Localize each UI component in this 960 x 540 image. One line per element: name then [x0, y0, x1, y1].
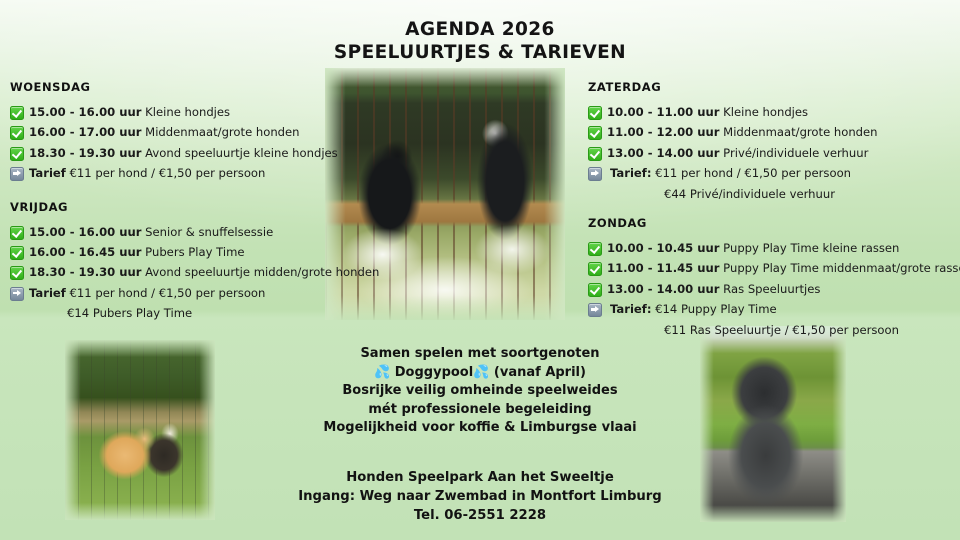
slot-text: 13.00 - 14.00 uur Privé/individuele verh… [607, 146, 868, 161]
slot-description: Kleine hondjes [720, 105, 809, 119]
check-square-icon [588, 262, 602, 276]
tarief-value: €11 per hond / €1,50 per persoon [66, 286, 266, 300]
schedule-slot-row: 15.00 - 16.00 uur Senior & snuffelsessie [10, 225, 360, 244]
slot-icon-wrap [588, 167, 602, 185]
check-square-icon [10, 266, 24, 280]
slot-text: 13.00 - 14.00 uur Ras Speeluurtjes [607, 282, 820, 297]
tarief-label: Tarief: [610, 302, 651, 316]
arrow-right-icon [588, 303, 602, 317]
promo-line-5: Mogelijkheid voor koffie & Limburgse vla… [0, 419, 960, 438]
slot-description: Middenmaat/grote honden [720, 125, 878, 139]
slot-description: Ras Speeluurtjes [720, 282, 821, 296]
slot-time: 11.00 - 11.45 uur [607, 261, 720, 275]
schedule-slot-row: 15.00 - 16.00 uur Kleine hondjes [10, 105, 360, 124]
slot-icon-wrap [588, 106, 602, 124]
slot-time: 10.00 - 10.45 uur [607, 241, 720, 255]
check-square-icon [10, 106, 24, 120]
check-square-icon [588, 126, 602, 140]
tarief-row: Tarief €11 per hond / €1,50 per persoon [10, 166, 360, 185]
arrow-right-icon [10, 167, 24, 181]
address-block: Honden Speelpark Aan het Sweeltje Ingang… [0, 468, 960, 525]
tarief-label: Tarief [29, 166, 66, 180]
schedule-column-left: WOENSDAG 15.00 - 16.00 uur Kleine hondje… [10, 80, 360, 336]
venue-phone: Tel. 06-2551 2228 [0, 506, 960, 525]
slot-icon-wrap [10, 147, 24, 165]
slot-list-zondag: 10.00 - 10.45 uur Puppy Play Time kleine… [588, 241, 958, 338]
slot-list-vrijdag: 15.00 - 16.00 uur Senior & snuffelsessie… [10, 225, 360, 322]
water-droplet-icon-right: 💦 [473, 365, 489, 380]
water-droplet-icon-left: 💦 [374, 365, 390, 380]
slot-time: 10.00 - 11.00 uur [607, 105, 720, 119]
slot-text: 15.00 - 16.00 uur Senior & snuffelsessie [29, 225, 273, 240]
slot-text: 15.00 - 16.00 uur Kleine hondjes [29, 105, 230, 120]
slot-text: 16.00 - 17.00 uur Middenmaat/grote honde… [29, 125, 300, 140]
slot-time: 18.30 - 19.30 uur [29, 265, 142, 279]
slot-icon-wrap [588, 303, 602, 321]
venue-name: Honden Speelpark Aan het Sweeltje [0, 468, 960, 487]
slot-description: Middenmaat/grote honden [142, 125, 300, 139]
promo-line-1: Samen spelen met soortgenoten [0, 345, 960, 364]
tarief-row: Tarief: €11 per hond / €1,50 per persoon [588, 166, 958, 185]
slot-text: Tarief €11 per hond / €1,50 per persoon [29, 166, 265, 181]
slot-time: 18.30 - 19.30 uur [29, 146, 142, 160]
slot-icon-wrap [10, 126, 24, 144]
day-heading-vrijdag: VRIJDAG [10, 200, 360, 214]
slot-time: 16.00 - 16.45 uur [29, 245, 142, 259]
slot-icon-wrap [588, 262, 602, 280]
slot-icon-wrap [588, 147, 602, 165]
check-square-icon [10, 246, 24, 260]
slot-description: Avond speeluurtje kleine hondjes [142, 146, 338, 160]
schedule-slot-row: 10.00 - 10.45 uur Puppy Play Time kleine… [588, 241, 958, 260]
check-square-icon [588, 242, 602, 256]
slot-time: 16.00 - 17.00 uur [29, 125, 142, 139]
slot-description: Privé/individuele verhuur [720, 146, 869, 160]
day-heading-zaterdag: ZATERDAG [588, 80, 958, 94]
schedule-slot-row: 13.00 - 14.00 uur Privé/individuele verh… [588, 146, 958, 165]
day-block-woensdag: WOENSDAG 15.00 - 16.00 uur Kleine hondje… [10, 80, 360, 186]
day-block-zaterdag: ZATERDAG 10.00 - 11.00 uur Kleine hondje… [588, 80, 958, 202]
schedule-slot-row: 16.00 - 16.45 uur Pubers Play Time [10, 245, 360, 264]
check-square-icon [588, 106, 602, 120]
poster-canvas: AGENDA 2026 SPEELUURTJES & TARIEVEN WOEN… [0, 0, 960, 540]
tarief-value: €11 per hond / €1,50 per persoon [66, 166, 266, 180]
slot-time: 11.00 - 12.00 uur [607, 125, 720, 139]
day-heading-zondag: ZONDAG [588, 216, 958, 230]
slot-text: 16.00 - 16.45 uur Pubers Play Time [29, 245, 245, 260]
title-line-1: AGENDA 2026 [0, 18, 960, 41]
tarief-row: Tarief €11 per hond / €1,50 per persoon [10, 286, 360, 305]
tarief-label: Tarief: [610, 166, 651, 180]
slot-text: 10.00 - 10.45 uur Puppy Play Time kleine… [607, 241, 899, 256]
promo-text-block: Samen spelen met soortgenoten 💦 Doggypoo… [0, 345, 960, 438]
day-block-vrijdag: VRIJDAG 15.00 - 16.00 uur Senior & snuff… [10, 200, 360, 322]
schedule-slot-row: 10.00 - 11.00 uur Kleine hondjes [588, 105, 958, 124]
slot-list-zaterdag: 10.00 - 11.00 uur Kleine hondjes11.00 - … [588, 105, 958, 202]
pool-photo-image [325, 68, 565, 320]
venue-entrance: Ingang: Weg naar Zwembad in Montfort Lim… [0, 487, 960, 506]
slot-icon-wrap [10, 246, 24, 264]
slot-icon-wrap [588, 283, 602, 301]
slot-text: Tarief: €11 per hond / €1,50 per persoon [607, 166, 851, 181]
arrow-right-icon [10, 287, 24, 301]
slot-description: Pubers Play Time [142, 245, 245, 259]
tarief-value: €11 per hond / €1,50 per persoon [651, 166, 851, 180]
promo-line-2: 💦 Doggypool💦 (vanaf April) [0, 364, 960, 383]
slot-icon-wrap [10, 266, 24, 284]
page-title: AGENDA 2026 SPEELUURTJES & TARIEVEN [0, 18, 960, 64]
check-square-icon [10, 126, 24, 140]
schedule-slot-row: 16.00 - 17.00 uur Middenmaat/grote honde… [10, 125, 360, 144]
tarief-extra-line: €14 Pubers Play Time [10, 306, 360, 321]
tarief-row: Tarief: €14 Puppy Play Time [588, 302, 958, 321]
arrow-right-icon [588, 167, 602, 181]
slot-text: 18.30 - 19.30 uur Avond speeluurtje klei… [29, 146, 338, 161]
tarief-value: €14 Puppy Play Time [651, 302, 776, 316]
schedule-slot-row: 18.30 - 19.30 uur Avond speeluurtje klei… [10, 146, 360, 165]
promo-line-4: mét professionele begeleiding [0, 401, 960, 420]
tarief-extra-line: €44 Privé/individuele verhuur [588, 187, 958, 202]
schedule-slot-row: 13.00 - 14.00 uur Ras Speeluurtjes [588, 282, 958, 301]
slot-text: Tarief €11 per hond / €1,50 per persoon [29, 286, 265, 301]
slot-time: 15.00 - 16.00 uur [29, 105, 142, 119]
slot-description: Kleine hondjes [142, 105, 231, 119]
slot-text: 11.00 - 11.45 uur Puppy Play Time midden… [607, 261, 960, 276]
promo-doggypool-label: Doggypool [390, 365, 473, 380]
slot-list-woensdag: 15.00 - 16.00 uur Kleine hondjes16.00 - … [10, 105, 360, 186]
slot-text: Tarief: €14 Puppy Play Time [607, 302, 777, 317]
schedule-slot-row: 11.00 - 12.00 uur Middenmaat/grote honde… [588, 125, 958, 144]
slot-icon-wrap [10, 287, 24, 305]
slot-icon-wrap [10, 106, 24, 124]
day-heading-woensdag: WOENSDAG [10, 80, 360, 94]
two-dogs-splashing-in-pool-photo [325, 68, 565, 320]
slot-icon-wrap [10, 226, 24, 244]
title-line-2: SPEELUURTJES & TARIEVEN [0, 41, 960, 64]
slot-description: Puppy Play Time middenmaat/grote rassen [720, 261, 960, 275]
slot-icon-wrap [588, 242, 602, 260]
check-square-icon [588, 147, 602, 161]
slot-time: 13.00 - 14.00 uur [607, 146, 720, 160]
check-square-icon [10, 226, 24, 240]
schedule-slot-row: 11.00 - 11.45 uur Puppy Play Time midden… [588, 261, 958, 280]
check-square-icon [588, 283, 602, 297]
slot-text: 18.30 - 19.30 uur Avond speeluurtje midd… [29, 265, 379, 280]
slot-text: 11.00 - 12.00 uur Middenmaat/grote honde… [607, 125, 878, 140]
slot-description: Senior & snuffelsessie [142, 225, 274, 239]
tarief-label: Tarief [29, 286, 66, 300]
schedule-slot-row: 18.30 - 19.30 uur Avond speeluurtje midd… [10, 265, 360, 284]
tarief-extra-line: €11 Ras Speeluurtje / €1,50 per persoon [588, 323, 958, 338]
promo-vanaf-april-label: (vanaf April) [489, 365, 586, 380]
day-block-zondag: ZONDAG 10.00 - 10.45 uur Puppy Play Time… [588, 216, 958, 338]
slot-description: Avond speeluurtje midden/grote honden [142, 265, 380, 279]
slot-time: 13.00 - 14.00 uur [607, 282, 720, 296]
schedule-column-right: ZATERDAG 10.00 - 11.00 uur Kleine hondje… [588, 80, 958, 352]
slot-icon-wrap [588, 126, 602, 144]
slot-time: 15.00 - 16.00 uur [29, 225, 142, 239]
check-square-icon [10, 147, 24, 161]
promo-line-3: Bosrijke veilig omheinde speelweides [0, 382, 960, 401]
slot-icon-wrap [10, 167, 24, 185]
slot-text: 10.00 - 11.00 uur Kleine hondjes [607, 105, 808, 120]
slot-description: Puppy Play Time kleine rassen [720, 241, 900, 255]
